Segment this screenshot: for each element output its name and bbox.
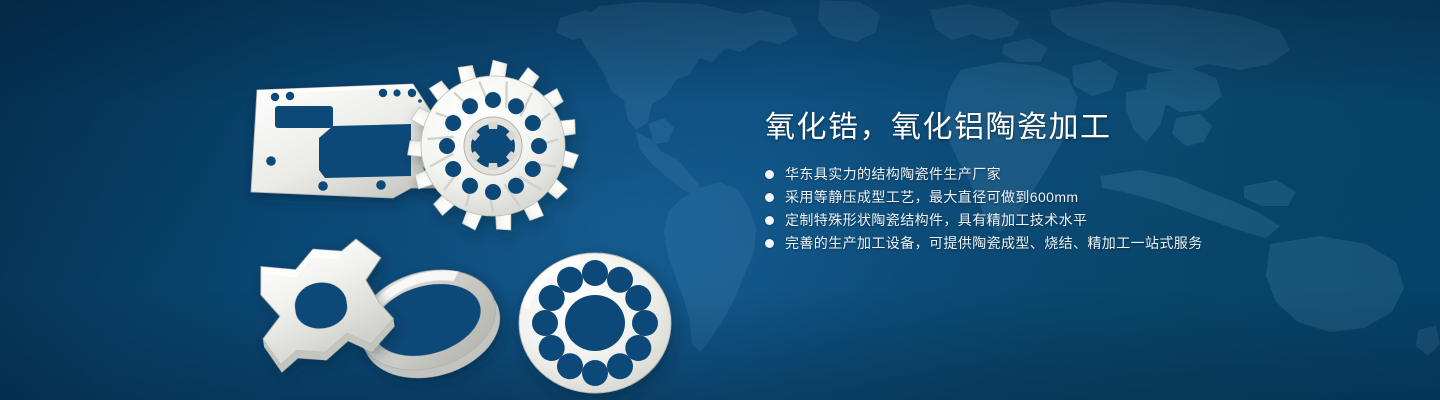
banner-feature-list: 华东具实力的结构陶瓷件生产厂家 采用等静压成型工艺，最大直径可做到600mm 定… [765, 166, 1325, 251]
bullet-text: 采用等静压成型工艺，最大直径可做到600mm [785, 189, 1078, 205]
ceramic-perforated-disc [519, 253, 671, 393]
list-item: 采用等静压成型工艺，最大直径可做到600mm [765, 189, 1325, 205]
banner-headline: 氧化锆，氧化铝陶瓷加工 [765, 108, 1325, 148]
bullet-text: 定制特殊形状陶瓷结构件，具有精加工技术水平 [785, 212, 1087, 228]
bullet-dot-icon [765, 239, 774, 248]
bullet-text: 完善的生产加工设备，可提供陶瓷成型、烧结、精加工一站式服务 [785, 235, 1203, 251]
list-item: 华东具实力的结构陶瓷件生产厂家 [765, 166, 1325, 182]
ceramic-parts-photo-group [215, 38, 735, 378]
bullet-dot-icon [765, 193, 774, 202]
bullet-text: 华东具实力的结构陶瓷件生产厂家 [785, 166, 1001, 182]
bullet-dot-icon [765, 216, 774, 225]
list-item: 完善的生产加工设备，可提供陶瓷成型、烧结、精加工一站式服务 [765, 235, 1325, 251]
ceramic-impeller-disc [406, 60, 579, 233]
bullet-dot-icon [765, 170, 774, 179]
promo-banner: 氧化锆，氧化铝陶瓷加工 华东具实力的结构陶瓷件生产厂家 采用等静压成型工艺，最大… [0, 0, 1440, 400]
list-item: 定制特殊形状陶瓷结构件，具有精加工技术水平 [765, 212, 1325, 228]
banner-text-column: 氧化锆，氧化铝陶瓷加工 华东具实力的结构陶瓷件生产厂家 采用等静压成型工艺，最大… [765, 108, 1325, 258]
